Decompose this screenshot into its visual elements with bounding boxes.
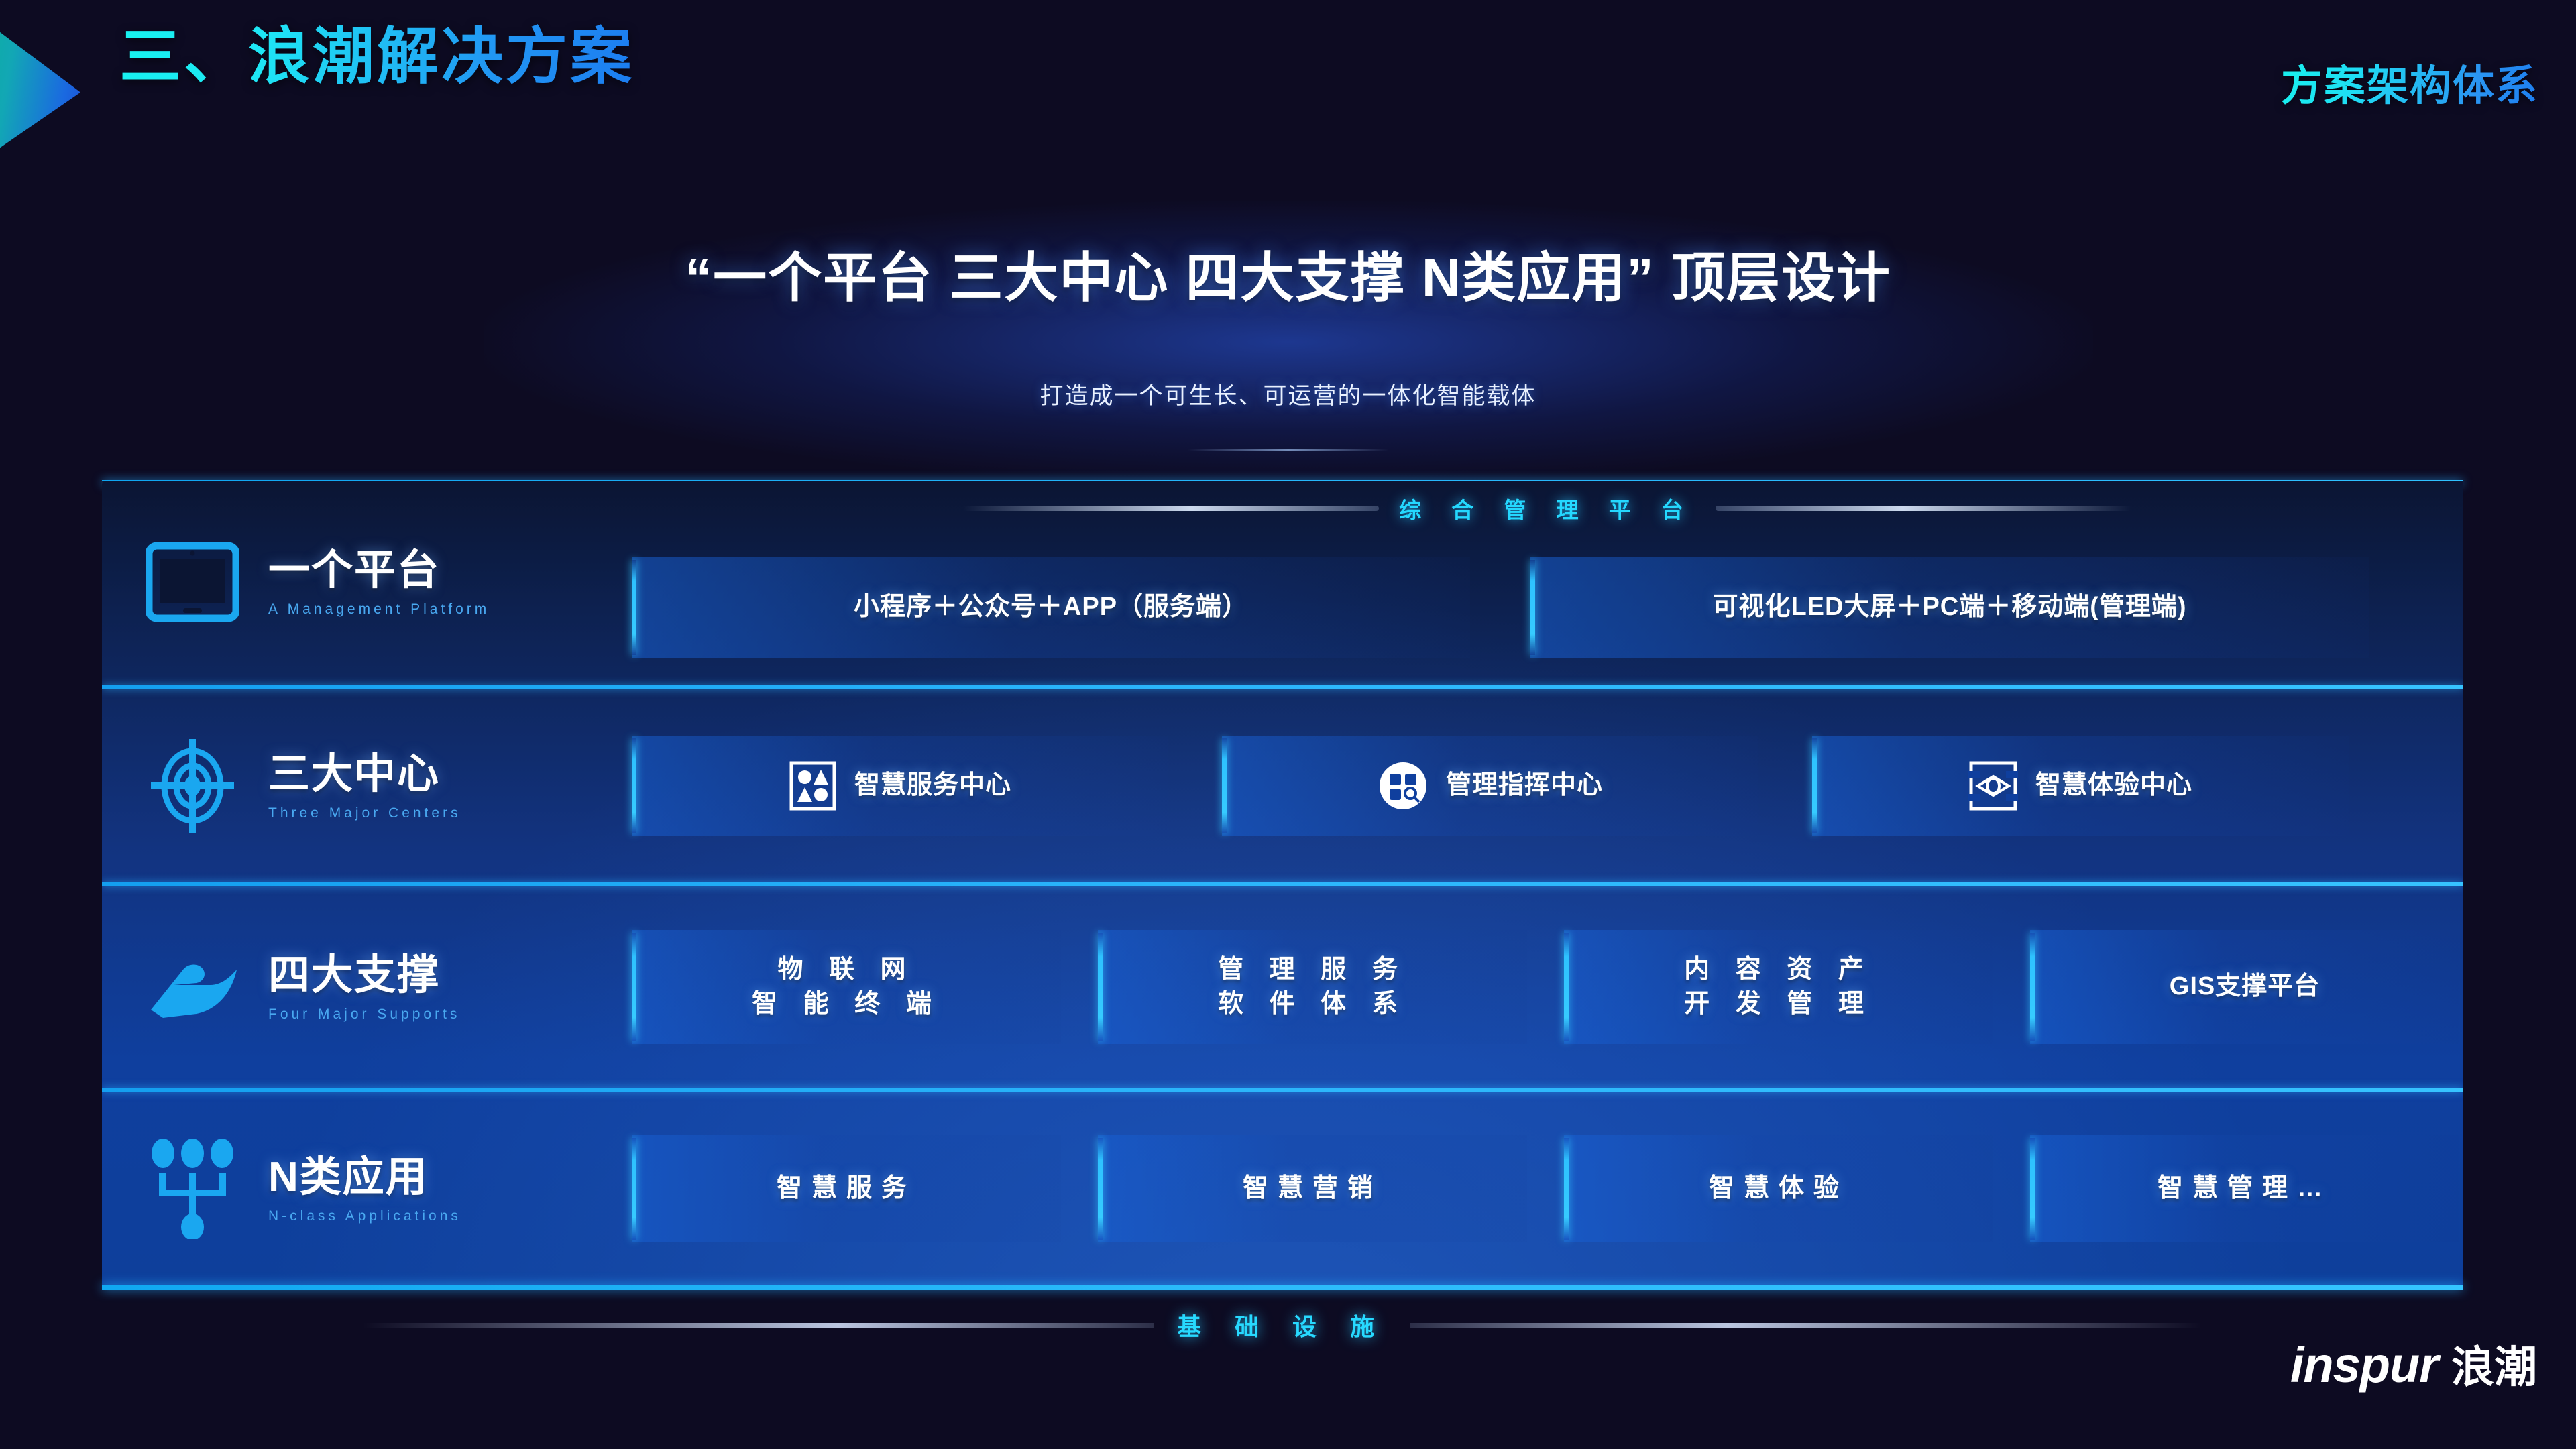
cell-text: 智慧营销 — [1243, 1171, 1382, 1206]
row-label-en: A Management Platform — [268, 601, 490, 618]
page-title: 三、浪潮解决方案 — [119, 19, 634, 96]
row-label-cn: 一个平台 — [268, 546, 490, 594]
caption-line-left — [963, 506, 1379, 511]
hand-icon — [142, 955, 243, 1019]
cell-smart-experience[interactable]: 智慧体验 — [1564, 1135, 1993, 1242]
row-label-supports: 四大支撑 Four Major Supports — [102, 951, 632, 1022]
cell-text: 智慧体验 — [1709, 1171, 1848, 1206]
row-centers: 三大中心 Three Major Centers 智 — [102, 689, 2463, 882]
row-label-en: Four Major Supports — [268, 1006, 460, 1023]
cell-text: 智慧服务 — [777, 1171, 916, 1206]
hero-title: “一个平台 三大中心 四大支撑 N类应用” 顶层设计 — [0, 235, 2576, 312]
cell-smart-marketing[interactable]: 智慧营销 — [1098, 1135, 1527, 1242]
row-label-en: Three Major Centers — [268, 805, 461, 821]
row-content-supports: 物 联 网 智 能 终 端 管 理 服 务 软 件 体 系 内 容 资 产 开 … — [632, 886, 2463, 1088]
row-applications: N类应用 N-class Applications 智慧服务 智慧营销 智慧体验… — [102, 1092, 2463, 1286]
cell-iot-terminal[interactable]: 物 联 网 智 能 终 端 — [632, 930, 1061, 1044]
row-label-en: N-class Applications — [268, 1208, 461, 1224]
chevron-decoration — [0, 12, 80, 166]
architecture-panel: 一个平台 A Management Platform 综 合 管 理 平 台 小… — [102, 481, 2463, 1286]
infrastructure-label: 基 础 设 施 — [1177, 1308, 1388, 1342]
row-label-centers: 三大中心 Three Major Centers — [102, 739, 632, 833]
cell-smart-management[interactable]: 智慧管理… — [2030, 1135, 2459, 1242]
row-label-cn: 三大中心 — [268, 750, 461, 798]
infra-line-right — [1410, 1323, 2202, 1328]
cell-text: 可视化LED大屏＋PC端＋移动端(管理端) — [1712, 590, 2186, 624]
section-title: 方案架构体系 — [2281, 62, 2538, 111]
cell-experience-center[interactable]: 智慧体验中心 — [1812, 736, 2349, 836]
eye-frame-icon — [1968, 760, 2018, 811]
row-content-platform: 综 合 管 理 平 台 小程序＋公众号＋APP（服务端） 可视化LED大屏＋PC… — [632, 481, 2463, 683]
logo-cn-text: 浪潮 — [2451, 1333, 2537, 1395]
cell-text: 小程序＋公众号＋APP（服务端） — [854, 590, 1248, 624]
cell-line-1: GIS支撑平台 — [2170, 970, 2320, 1004]
cell-line-1: 管 理 服 务 — [1218, 953, 1407, 987]
infrastructure-bar: 基 础 设 施 — [102, 1308, 2463, 1342]
cell-text: 智慧服务中心 — [854, 768, 1011, 803]
cell-line-2: 智 能 终 端 — [752, 987, 941, 1021]
cell-text: 智慧管理… — [2158, 1171, 2332, 1206]
row-supports: 四大支撑 Four Major Supports 物 联 网 智 能 终 端 管… — [102, 886, 2463, 1088]
dashboard-search-icon — [1378, 760, 1429, 811]
row-label-applications: N类应用 N-class Applications — [102, 1139, 632, 1239]
platform-caption: 综 合 管 理 平 台 — [632, 492, 2463, 524]
tablet-icon — [142, 542, 243, 622]
cell-content-asset[interactable]: 内 容 资 产 开 发 管 理 — [1564, 930, 1993, 1044]
title-divider — [1188, 449, 1389, 451]
target-icon — [142, 739, 243, 833]
row-content-applications: 智慧服务 智慧营销 智慧体验 智慧管理… — [632, 1092, 2463, 1286]
cell-management-software[interactable]: 管 理 服 务 软 件 体 系 — [1098, 930, 1527, 1044]
shapes-frame-icon — [789, 760, 837, 811]
inspur-logo: inspur 浪潮 — [2290, 1333, 2537, 1395]
row-platform: 一个平台 A Management Platform 综 合 管 理 平 台 小… — [102, 481, 2463, 683]
row-content-centers: 智慧服务中心 管理指挥中心 — [632, 689, 2463, 882]
cell-management-end[interactable]: 可视化LED大屏＋PC端＋移动端(管理端) — [1530, 557, 2369, 658]
row-label-platform: 一个平台 A Management Platform — [102, 542, 632, 622]
cell-command-center[interactable]: 管理指挥中心 — [1222, 736, 1758, 836]
cell-text: 管理指挥中心 — [1446, 768, 1603, 803]
row-label-cn: 四大支撑 — [268, 951, 460, 999]
cell-line-2: 开 发 管 理 — [1684, 987, 1873, 1021]
infra-line-left — [363, 1323, 1154, 1328]
row-label-cn: N类应用 — [268, 1153, 461, 1201]
panel-bottom-border — [102, 1285, 2463, 1290]
cell-text: 智慧体验中心 — [2035, 768, 2192, 803]
cell-line-1: 物 联 网 — [752, 953, 941, 987]
cell-line-2: 软 件 体 系 — [1218, 987, 1407, 1021]
caption-line-right — [1716, 506, 2131, 511]
cell-line-1: 内 容 资 产 — [1684, 953, 1873, 987]
nodes-icon — [142, 1139, 243, 1239]
cell-smart-service-center[interactable]: 智慧服务中心 — [632, 736, 1168, 836]
cell-smart-service[interactable]: 智慧服务 — [632, 1135, 1061, 1242]
cell-gis-platform[interactable]: GIS支撑平台 — [2030, 930, 2459, 1044]
cell-service-end[interactable]: 小程序＋公众号＋APP（服务端） — [632, 557, 1470, 658]
logo-en-text: inspur — [2290, 1336, 2438, 1393]
caption-text: 综 合 管 理 平 台 — [1399, 492, 1695, 524]
hero-subtitle: 打造成一个可生长、可运营的一体化智能载体 — [0, 377, 2576, 411]
